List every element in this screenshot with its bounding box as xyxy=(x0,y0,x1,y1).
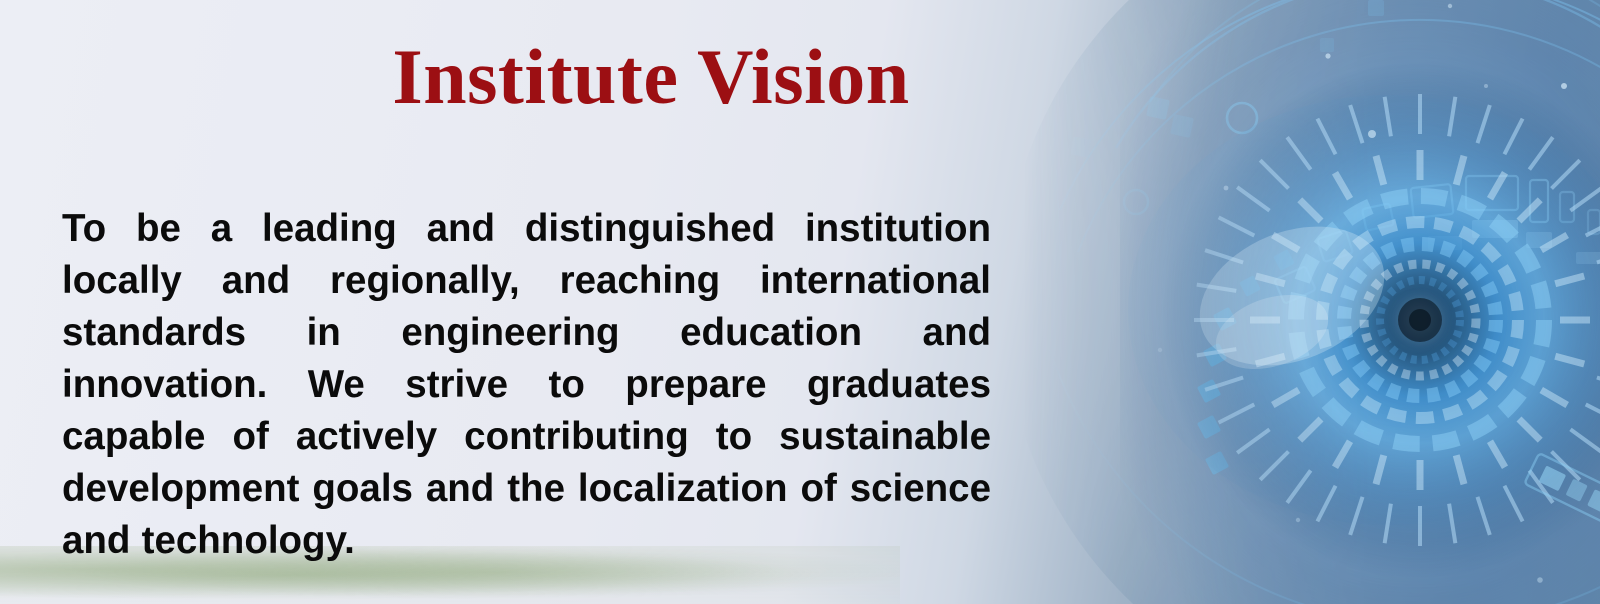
institute-vision-banner: Institute Vision To be a leading and dis… xyxy=(0,0,1600,604)
page-title: Institute Vision xyxy=(0,38,1302,116)
vision-statement: To be a leading and distinguished instit… xyxy=(62,203,991,567)
banner-content: Institute Vision To be a leading and dis… xyxy=(0,0,1600,604)
